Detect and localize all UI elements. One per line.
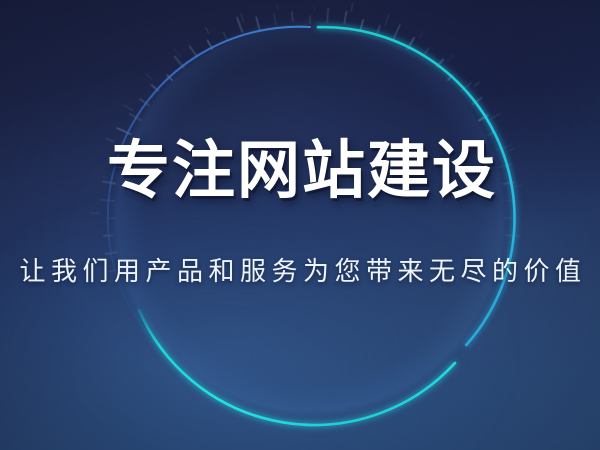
- page-subtitle: 让我们用产品和服务为您带来无尽的价值: [19, 251, 586, 288]
- page-title: 专注网站建设: [107, 138, 497, 204]
- hero-banner: 专注网站建设 让我们用产品和服务为您带来无尽的价值: [0, 0, 600, 450]
- banner-text-block: 专注网站建设 让我们用产品和服务为您带来无尽的价值: [0, 0, 600, 450]
